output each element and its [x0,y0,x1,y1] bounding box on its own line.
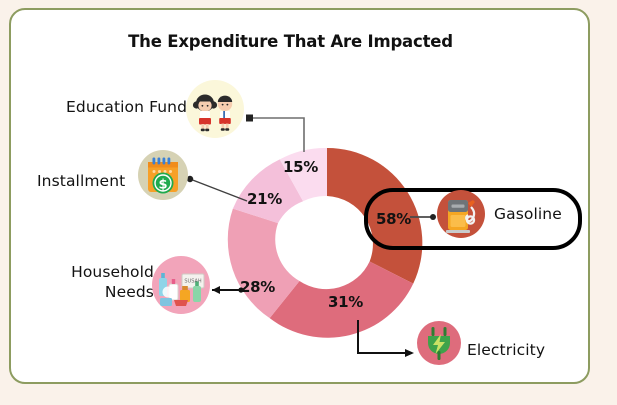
cleaning-supplies-icon[interactable]: SUSAH [152,256,210,314]
connector-education [246,115,304,153]
legend-label-installment: Installment [37,172,125,190]
connector-installment [187,176,247,201]
donut-chart [228,148,423,338]
slice-percent-household: 28% [240,278,275,296]
students-icon[interactable] [186,80,244,138]
connector-household [212,286,244,294]
legend-label-household: Household Needs [58,262,154,303]
svg-text:$: $ [158,177,167,192]
legend-label-education: Education Fund [66,98,187,116]
slice-percent-gasoline: 58% [376,210,411,228]
infographic-canvas: The Expenditure That Are Impacted [0,0,617,405]
slice-percent-installment: 21% [247,190,282,208]
slice-percent-education: 15% [283,158,318,176]
gas-pump-icon[interactable] [437,190,485,238]
legend-label-electricity: Electricity [467,341,545,359]
calendar-money-icon[interactable]: $ [138,150,188,200]
svg-text:SUSAH: SUSAH [184,279,202,285]
legend-label-gasoline: Gasoline [494,205,562,223]
power-plug-icon[interactable] [417,321,461,365]
slice-percent-electricity: 31% [328,293,363,311]
